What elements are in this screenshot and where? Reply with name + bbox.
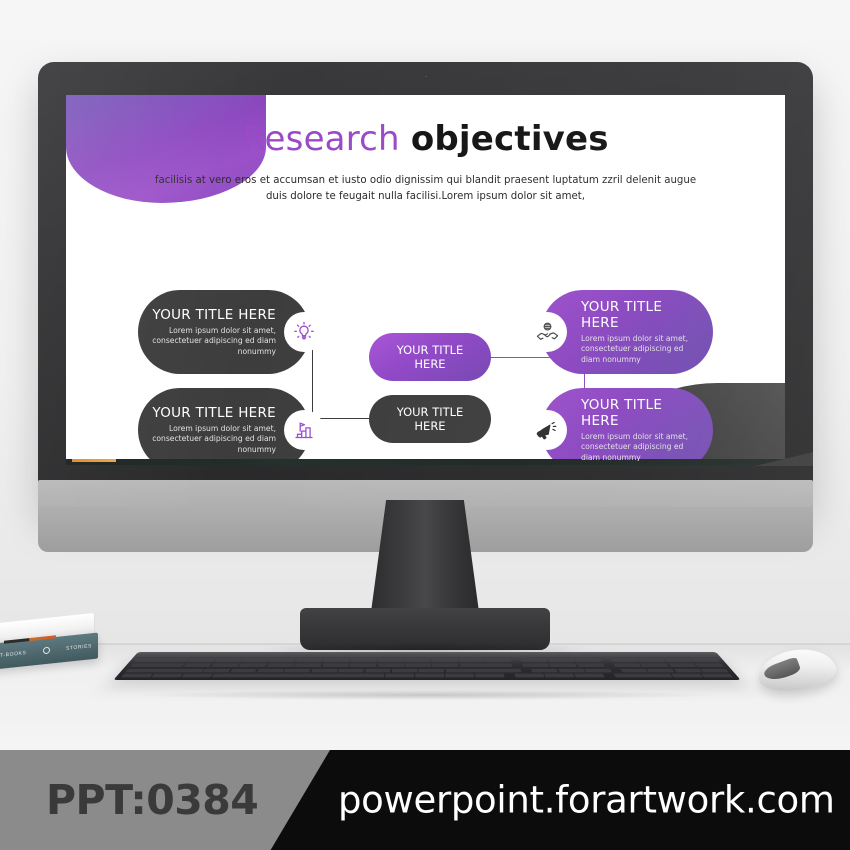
- keyboard-shadow: [142, 690, 712, 700]
- book-emblem-icon: [43, 647, 50, 655]
- title-main: objectives: [411, 119, 609, 159]
- bottom-banner: PPT:0384 powerpoint.forartwork.com: [0, 750, 850, 850]
- ppt-code-label: PPT:0384: [46, 776, 258, 824]
- center-pill-top-text: YOUR TITLE HERE: [397, 343, 464, 371]
- webcam-icon: [423, 74, 428, 79]
- card-right-bottom[interactable]: YOUR TITLE HERE Lorem ipsum dolor sit am…: [541, 388, 713, 461]
- keyboard[interactable]: [113, 652, 740, 680]
- card-body: Lorem ipsum dolor sit amet, consectetuer…: [152, 424, 276, 456]
- page-title: Research objectives: [66, 119, 785, 159]
- card-title: YOUR TITLE HERE: [581, 299, 699, 331]
- keyboard-shine: [113, 652, 740, 680]
- card-left-top[interactable]: YOUR TITLE HERE Lorem ipsum dolor sit am…: [138, 290, 310, 374]
- card-text: YOUR TITLE HERE Lorem ipsum dolor sit am…: [138, 307, 310, 358]
- card-body: Lorem ipsum dolor sit amet, consectetuer…: [581, 334, 699, 366]
- presentation-slide: Research objectives facilisis at vero er…: [66, 95, 785, 461]
- books-stack: T-BOOKSSTORIES: [0, 618, 106, 676]
- pill-line-2: HERE: [414, 419, 445, 433]
- mouse-shadow-detail: [762, 656, 801, 683]
- center-pill-bottom[interactable]: YOUR TITLE HERE: [369, 395, 491, 443]
- card-right-top[interactable]: YOUR TITLE HERE Lorem ipsum dolor sit am…: [541, 290, 713, 374]
- monitor-stand-neck: [371, 500, 479, 612]
- card-text: YOUR TITLE HERE Lorem ipsum dolor sit am…: [541, 397, 713, 461]
- book-spine-text: T-BOOKSSTORIES: [0, 642, 92, 659]
- monitor: Research objectives facilisis at vero er…: [38, 62, 813, 507]
- desk-scene: T-BOOKSSTORIES Research objectives facil…: [0, 0, 850, 850]
- card-body: Lorem ipsum dolor sit amet, consectetuer…: [581, 432, 699, 461]
- website-url-label[interactable]: powerpoint.forartwork.com: [338, 779, 835, 822]
- card-body: Lorem ipsum dolor sit amet, consectetuer…: [152, 326, 276, 358]
- card-text: YOUR TITLE HERE Lorem ipsum dolor sit am…: [138, 405, 310, 456]
- card-title: YOUR TITLE HERE: [152, 307, 276, 323]
- slide-subtitle: facilisis at vero eros et accumsan et iu…: [154, 173, 697, 205]
- card-left-bottom[interactable]: YOUR TITLE HERE Lorem ipsum dolor sit am…: [138, 388, 310, 461]
- pill-line-1: YOUR TITLE: [397, 405, 464, 419]
- center-pill-top[interactable]: YOUR TITLE HERE: [369, 333, 491, 381]
- card-title: YOUR TITLE HERE: [581, 397, 699, 429]
- center-pill-bottom-text: YOUR TITLE HERE: [397, 405, 464, 433]
- taskbar-orange-accent: [72, 459, 116, 462]
- card-title: YOUR TITLE HERE: [152, 405, 276, 421]
- pill-line-1: YOUR TITLE: [397, 343, 464, 357]
- mouse[interactable]: [758, 650, 836, 690]
- mouse-body: [756, 645, 839, 695]
- monitor-screen[interactable]: Research objectives facilisis at vero er…: [66, 95, 785, 461]
- title-accent: Research: [242, 119, 411, 159]
- card-text: YOUR TITLE HERE Lorem ipsum dolor sit am…: [541, 299, 713, 366]
- pill-line-2: HERE: [414, 357, 445, 371]
